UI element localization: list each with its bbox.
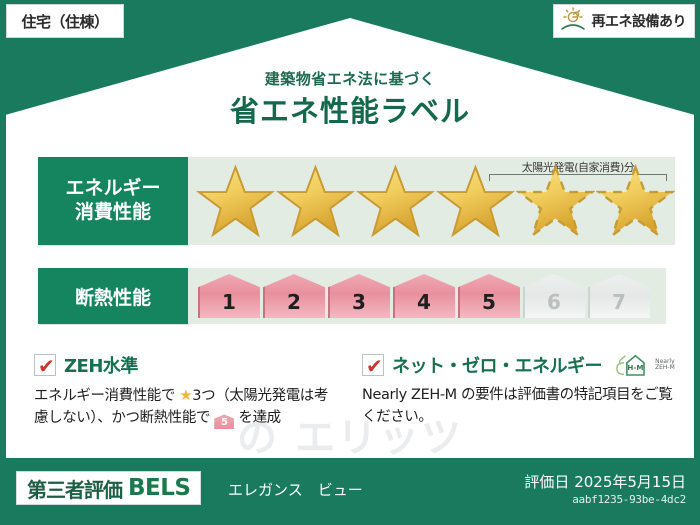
star-solar-dashed (596, 164, 675, 238)
housing-type-label: 住宅（住棟） (21, 11, 108, 32)
svg-text:H-M: H-M (627, 363, 643, 372)
inline-star-icon: ★ (179, 386, 192, 404)
insulation-grade-7: 7 (588, 274, 650, 318)
insulation-grade-1: 1 (198, 274, 260, 318)
inline-house-icon: 5 (214, 414, 234, 429)
zeh-caption-line2: ZEH-M (655, 364, 675, 371)
label-subtitle: 建築物省エネ法に基づく (0, 68, 700, 89)
housing-type-tab: 住宅（住棟） (6, 4, 124, 38)
insulation-grade-group: 1 2 3 4 5 6 7 (188, 274, 650, 318)
grade-number: 5 (482, 290, 496, 314)
note-zeh-text-post: を達成 (234, 410, 281, 426)
bels-logo-text: BELS (128, 475, 190, 501)
checkbox-net-zero-energy: ✔ (362, 354, 384, 376)
star-solar-dashed (516, 164, 595, 238)
energy-performance-row: エネルギー 消費性能 太陽光発電(自家消費)分 (38, 157, 666, 245)
insulation-grade-5: 5 (458, 274, 520, 318)
insulation-grade-6: 6 (523, 274, 585, 318)
note-nze-header: ✔ ネット・ゼロ・エネルギー H-M Nearly ZEH-M (362, 352, 686, 378)
insulation-rating-panel: 1 2 3 4 5 6 7 (188, 268, 666, 324)
check-icon: ✔ (366, 355, 383, 377)
insulation-grade-4: 4 (393, 274, 455, 318)
note-zeh-title: ZEH水準 (64, 352, 138, 378)
renewable-equipment-badge: 再エネ設備あり (553, 4, 696, 38)
building-name: エレガンス ビュー (228, 479, 363, 500)
note-nze-body: Nearly ZEH-M の要件は評価書の特記項目をご覧ください。 (362, 384, 686, 429)
note-net-zero-energy: ✔ ネット・ゼロ・エネルギー H-M Nearly ZEH-M Nearly Z… (350, 352, 700, 430)
insulation-grade-3: 3 (328, 274, 390, 318)
insulation-performance-row: 断熱性能 1 2 3 4 5 6 7 (38, 268, 666, 324)
bels-prefix-label: 第三者評価 (27, 474, 122, 503)
evaluation-id: aabf1235-93be-4dc2 (572, 493, 686, 506)
grade-number: 7 (612, 290, 626, 314)
check-icon: ✔ (38, 355, 55, 377)
footer-bar: 第三者評価 BELS エレガンス ビュー 評価日 2025年5月15日 aabf… (0, 463, 700, 525)
note-zeh-header: ✔ ZEH水準 (34, 352, 332, 378)
notes-section: ✔ ZEH水準 エネルギー消費性能で ★3つ（太陽光発電は考慮しない）、かつ断熱… (0, 352, 700, 430)
zeh-m-house-logo-icon: H-M Nearly ZEH-M (614, 352, 675, 378)
energy-star-group (188, 164, 675, 238)
evaluation-date: 評価日 2025年5月15日 (524, 471, 686, 492)
zeh-logo-caption: Nearly ZEH-M (655, 359, 675, 372)
energy-label-line1: エネルギー (65, 177, 160, 201)
insulation-grade-2: 2 (263, 274, 325, 318)
star-filled (276, 164, 355, 238)
note-zeh-text-pre: エネルギー消費性能で (34, 388, 179, 404)
star-filled (436, 164, 515, 238)
grade-number: 3 (352, 290, 366, 314)
energy-label-line2: 消費性能 (75, 201, 151, 225)
note-zeh-standard: ✔ ZEH水準 エネルギー消費性能で ★3つ（太陽光発電は考慮しない）、かつ断熱… (0, 352, 350, 430)
evaluation-date-label: 評価日 (524, 473, 569, 491)
grade-number: 6 (547, 290, 561, 314)
note-zeh-body: エネルギー消費性能で ★3つ（太陽光発電は考慮しない）、かつ断熱性能で 5 を達… (34, 384, 332, 430)
energy-performance-label-cell: エネルギー 消費性能 (38, 157, 188, 245)
star-filled (196, 164, 275, 238)
insulation-performance-label-cell: 断熱性能 (38, 268, 188, 324)
solar-sun-icon (558, 6, 588, 36)
grade-number: 2 (287, 290, 301, 314)
energy-performance-label: 住宅（住棟） 再エネ設備あり 建築物省エネ法に基づく 省エネ性能ラベル の エ (0, 0, 700, 525)
note-nze-title: ネット・ゼロ・エネルギー (392, 352, 602, 378)
renewable-badge-label: 再エネ設備あり (592, 11, 687, 31)
checkbox-zeh-standard: ✔ (34, 354, 56, 376)
grade-number: 1 (222, 290, 236, 314)
evaluation-date-value: 2025年5月15日 (574, 473, 686, 491)
star-filled (356, 164, 435, 238)
insulation-label: 断熱性能 (75, 283, 151, 310)
bels-certification-mark: 第三者評価 BELS (16, 471, 201, 505)
grade-number: 4 (417, 290, 431, 314)
energy-rating-panel: 太陽光発電(自家消費)分 (188, 157, 675, 245)
label-title: 省エネ性能ラベル (0, 88, 700, 130)
